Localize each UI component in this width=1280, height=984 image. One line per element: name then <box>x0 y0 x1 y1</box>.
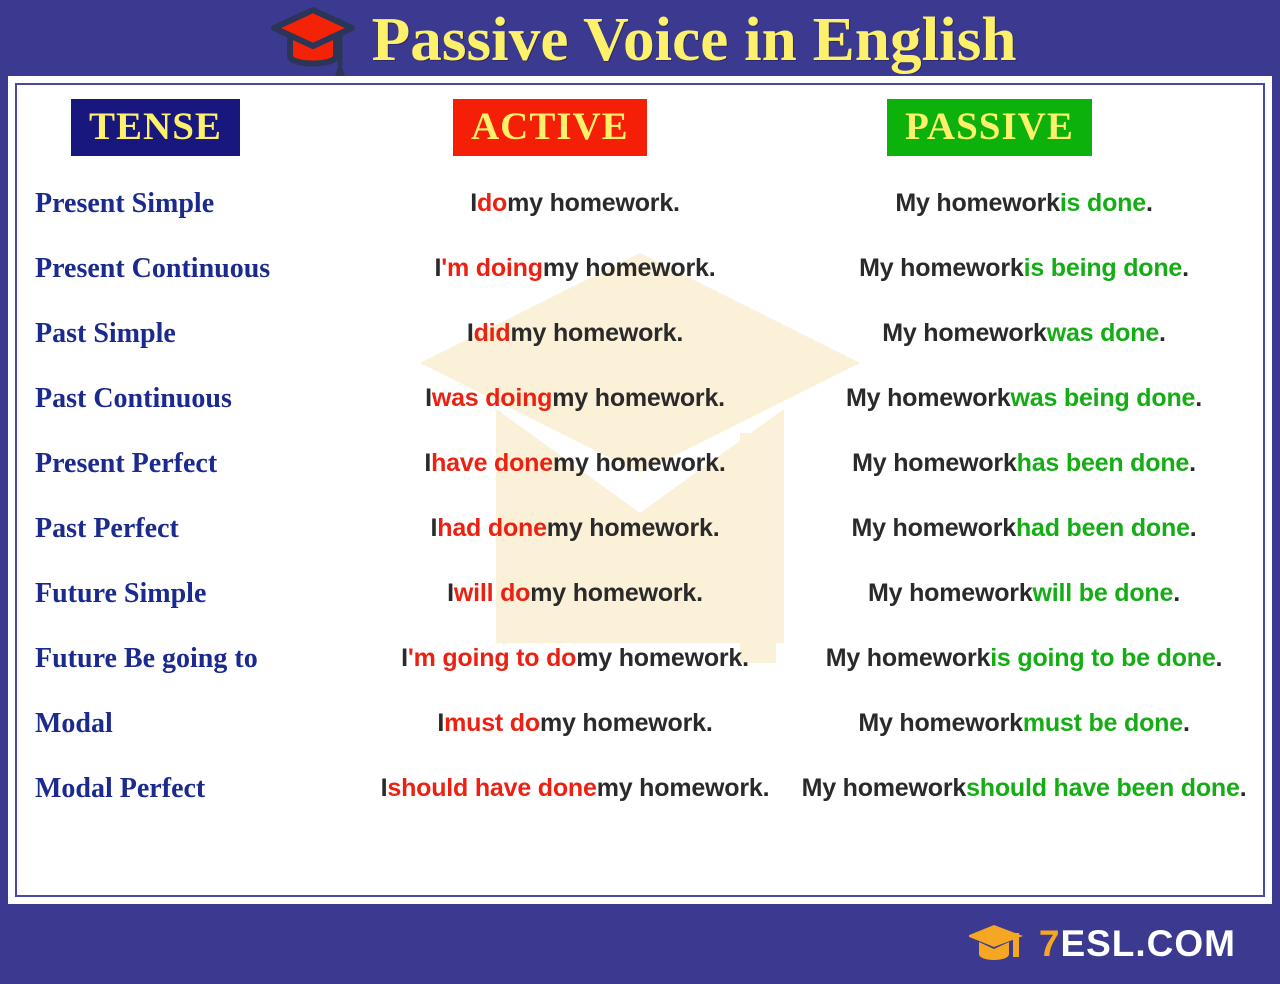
table-column-headers: TENSE ACTIVE PASSIVE <box>17 85 1263 171</box>
table-row: Future Be going toI'm going to do my hom… <box>17 626 1263 691</box>
active-plain: I <box>431 514 438 543</box>
active-plain: my homework. <box>552 384 725 413</box>
active-highlight: 'm doing <box>441 254 543 283</box>
passive-plain: My homework <box>882 319 1047 348</box>
passive-plain: My homework <box>846 384 1011 413</box>
active-plain: my homework. <box>530 579 703 608</box>
passive-highlight: is being done <box>1024 254 1183 283</box>
passive-sentence: My homework had been done. <box>789 496 1259 561</box>
active-highlight: must do <box>444 709 540 738</box>
passive-plain: My homework <box>852 449 1017 478</box>
passive-sentence: My homework is done. <box>789 171 1259 236</box>
active-plain: my homework. <box>547 514 720 543</box>
table-row: Past SimpleI did my homework.My homework… <box>17 301 1263 366</box>
table-row: Past PerfectI had done my homework.My ho… <box>17 496 1263 561</box>
passive-plain: My homework <box>826 644 991 673</box>
table-row: Past ContinuousI was doing my homework.M… <box>17 366 1263 431</box>
passive-highlight: has been done <box>1017 449 1189 478</box>
column-header-tense: TENSE <box>71 99 240 156</box>
passive-highlight: will be done <box>1033 579 1174 608</box>
active-sentence: I had done my homework. <box>365 496 785 561</box>
passive-plain: . <box>1173 579 1180 608</box>
active-plain: my homework. <box>507 189 680 218</box>
active-plain: my homework. <box>510 319 683 348</box>
column-header-active: ACTIVE <box>453 99 647 156</box>
table-row: Present SimpleI do my homework.My homewo… <box>17 171 1263 236</box>
passive-plain: . <box>1159 319 1166 348</box>
passive-plain: My homework <box>859 254 1024 283</box>
tense-label: Present Continuous <box>35 236 365 301</box>
active-plain: I <box>401 644 408 673</box>
passive-sentence: My homework was being done. <box>789 366 1259 431</box>
active-plain: I <box>425 384 432 413</box>
active-highlight: 'm going to do <box>408 644 576 673</box>
passive-plain: My homework <box>851 514 1016 543</box>
passive-plain: My homework <box>802 774 967 803</box>
active-sentence: I'm going to do my homework. <box>365 626 785 691</box>
active-plain: my homework. <box>576 644 749 673</box>
active-plain: I <box>435 254 442 283</box>
table-row: Present PerfectI have done my homework.M… <box>17 431 1263 496</box>
passive-highlight: is done <box>1060 189 1146 218</box>
tense-label: Modal <box>35 691 365 756</box>
active-plain: I <box>467 319 474 348</box>
passive-plain: . <box>1240 774 1247 803</box>
active-plain: my homework. <box>597 774 770 803</box>
content-card: TENSE ACTIVE PASSIVE Present SimpleI do … <box>8 76 1272 904</box>
brand-mark-7: 7 <box>1039 923 1061 964</box>
passive-sentence: My homework is being done. <box>789 236 1259 301</box>
active-sentence: I was doing my homework. <box>365 366 785 431</box>
passive-highlight: should have been done <box>966 774 1240 803</box>
passive-plain: . <box>1182 254 1189 283</box>
page-title: Passive Voice in English <box>372 9 1017 71</box>
active-highlight: do <box>477 189 507 218</box>
passive-plain: . <box>1190 514 1197 543</box>
tense-label: Present Perfect <box>35 431 365 496</box>
tense-table-body: Present SimpleI do my homework.My homewo… <box>17 171 1263 821</box>
active-sentence: I do my homework. <box>365 171 785 236</box>
active-plain: I <box>381 774 388 803</box>
active-highlight: did <box>474 319 511 348</box>
active-plain: my homework. <box>540 709 713 738</box>
tense-label: Past Simple <box>35 301 365 366</box>
passive-plain: . <box>1183 709 1190 738</box>
brand-name-text: ESL.COM <box>1060 923 1236 964</box>
passive-plain: My homework <box>868 579 1033 608</box>
passive-sentence: My homework is going to be done. <box>789 626 1259 691</box>
active-plain: I <box>424 449 431 478</box>
active-highlight: have done <box>431 449 553 478</box>
table-row: Modal PerfectI should have done my homew… <box>17 756 1263 821</box>
active-highlight: was doing <box>432 384 552 413</box>
tense-label: Past Perfect <box>35 496 365 561</box>
active-plain: I <box>437 709 444 738</box>
tense-label: Future Be going to <box>35 626 365 691</box>
active-highlight: had done <box>437 514 547 543</box>
active-plain: I <box>447 579 454 608</box>
active-sentence: I will do my homework. <box>365 561 785 626</box>
passive-sentence: My homework has been done. <box>789 431 1259 496</box>
passive-highlight: had been done <box>1016 514 1190 543</box>
passive-plain: . <box>1146 189 1153 218</box>
page-footer: 7ESL.COM <box>0 904 1280 984</box>
tense-label: Modal Perfect <box>35 756 365 821</box>
tense-label: Future Simple <box>35 561 365 626</box>
brand-logo: 7ESL.COM <box>969 922 1236 964</box>
active-sentence: I'm doing my homework. <box>365 236 785 301</box>
passive-plain: . <box>1189 449 1196 478</box>
passive-sentence: My homework was done. <box>789 301 1259 366</box>
graduation-cap-icon <box>270 4 356 76</box>
passive-highlight: was being done <box>1011 384 1196 413</box>
active-sentence: I did my homework. <box>365 301 785 366</box>
active-highlight: should have done <box>387 774 596 803</box>
passive-sentence: My homework should have been done. <box>789 756 1259 821</box>
page-header: Passive Voice in English <box>0 0 1280 78</box>
passive-highlight: must be done <box>1023 709 1183 738</box>
active-plain: I <box>470 189 477 218</box>
table-row: Future SimpleI will do my homework.My ho… <box>17 561 1263 626</box>
passive-plain: My homework <box>858 709 1023 738</box>
table-row: ModalI must do my homework.My homework m… <box>17 691 1263 756</box>
passive-sentence: My homework must be done. <box>789 691 1259 756</box>
tense-label: Past Continuous <box>35 366 365 431</box>
passive-sentence: My homework will be done. <box>789 561 1259 626</box>
active-plain: my homework. <box>543 254 716 283</box>
active-sentence: I should have done my homework. <box>365 756 785 821</box>
passive-plain: . <box>1195 384 1202 413</box>
passive-plain: My homework <box>895 189 1060 218</box>
content-card-inner-border: TENSE ACTIVE PASSIVE Present SimpleI do … <box>15 83 1265 897</box>
active-sentence: I have done my homework. <box>365 431 785 496</box>
active-highlight: will do <box>454 579 530 608</box>
table-row: Present ContinuousI'm doing my homework.… <box>17 236 1263 301</box>
tense-label: Present Simple <box>35 171 365 236</box>
passive-highlight: is going to be done <box>990 644 1215 673</box>
active-plain: my homework. <box>553 449 726 478</box>
active-sentence: I must do my homework. <box>365 691 785 756</box>
passive-plain: . <box>1216 644 1223 673</box>
passive-highlight: was done <box>1047 319 1159 348</box>
column-header-passive: PASSIVE <box>887 99 1092 156</box>
graduation-cap-logo-icon <box>969 922 1027 964</box>
brand-name: 7ESL.COM <box>1039 925 1236 962</box>
